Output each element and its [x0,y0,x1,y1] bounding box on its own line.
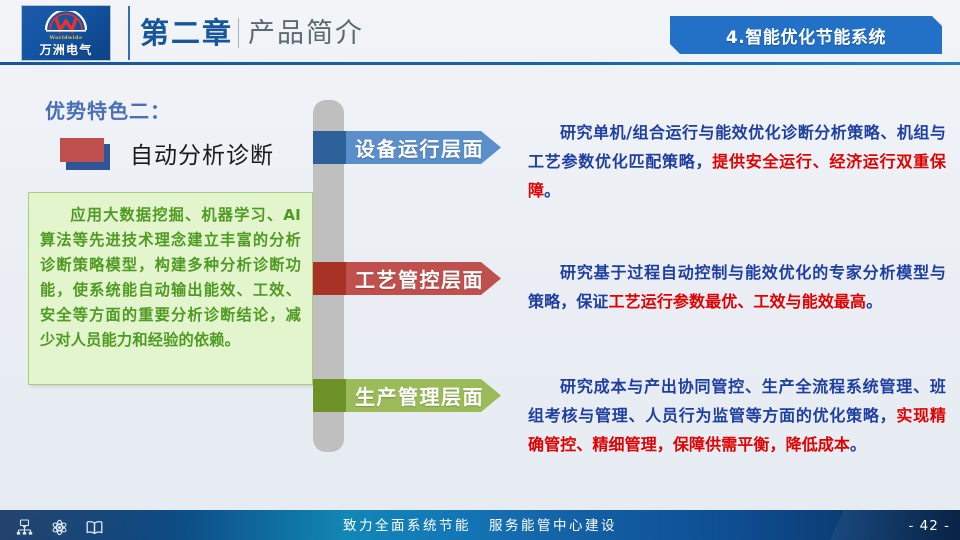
arrow-cap [313,131,346,164]
worldwide-w-logo-icon [42,11,90,35]
paragraph-tail: 。 [544,181,560,200]
page-number: - 42 - [908,518,950,534]
header-accent-bar [128,6,130,60]
slide-canvas: Worldwide 万洲电气 第二章 产品简介 4.智能优化节能系统 优势特色二… [0,0,960,540]
description-callout: 应用大数据挖掘、机器学习、AI算法等先进技术理念建立丰富的分析诊断策略模型，构建… [28,192,313,385]
paragraph-lead: 研究成本与产出协同管控、生产全流程系统管理、班组考核与管理、人员行为监管等方面的… [528,377,946,425]
paragraph-highlight: 工艺运行参数最优、工效与能效最高 [609,292,867,311]
header-separator [238,18,239,48]
logo-subtitle: Worldwide [49,36,82,41]
description-text: 应用大数据挖掘、机器学习、AI算法等先进技术理念建立丰富的分析诊断策略模型，构建… [40,203,301,353]
layer-label: 设备运行层面 [346,133,484,162]
advantage-title: 优势特色二： [45,95,171,124]
layer-arrow-process[interactable]: 工艺管控层面 [313,262,501,295]
footer-bar: 致力全面系统节能服务能管中心建设 - 42 - [0,510,960,540]
arrow-cap [313,379,346,412]
layer-arrow-production[interactable]: 生产管理层面 [313,379,501,412]
company-logo: Worldwide 万洲电气 [22,6,110,60]
topic-banner-body: 4.智能优化节能系统 [670,16,942,54]
feature-label: 自动分析诊断 [130,136,274,170]
chapter-title: 第二章 [140,16,233,50]
logo-company-name: 万洲电气 [40,44,93,56]
topic-banner-label: 4.智能优化节能系统 [726,23,886,48]
footer-slogan: 致力全面系统节能服务能管中心建设 [0,514,960,534]
paragraph-tail: 。 [850,435,866,454]
paragraph-tail: 。 [866,292,882,311]
feature-bullet-icon [60,138,110,168]
footer-slogan-right: 服务能管中心建设 [489,518,617,534]
arrow-cap [313,262,346,295]
layer-label: 工艺管控层面 [346,264,484,293]
arrow-body: 生产管理层面 [346,379,501,412]
arrow-body: 设备运行层面 [346,131,501,164]
topic-banner: 4.智能优化节能系统 [670,16,942,54]
layer-description-production: 研究成本与产出协同管控、生产全流程系统管理、班组考核与管理、人员行为监管等方面的… [528,372,946,459]
section-title: 产品简介 [248,17,364,51]
layer-description-equipment: 研究单机/组合运行与能效优化诊断分析策略、机组与工艺参数优化匹配策略，提供安全运… [528,118,946,205]
feature-heading: 自动分析诊断 [60,136,274,170]
layer-label: 生产管理层面 [346,381,484,410]
layer-arrow-equipment[interactable]: 设备运行层面 [313,131,501,164]
layer-description-process: 研究基于过程自动控制与能效优化的专家分析模型与策略，保证工艺运行参数最优、工效与… [528,258,946,316]
arrow-body: 工艺管控层面 [346,262,501,295]
header-underline [0,62,960,65]
footer-slogan-left: 致力全面系统节能 [343,518,471,534]
